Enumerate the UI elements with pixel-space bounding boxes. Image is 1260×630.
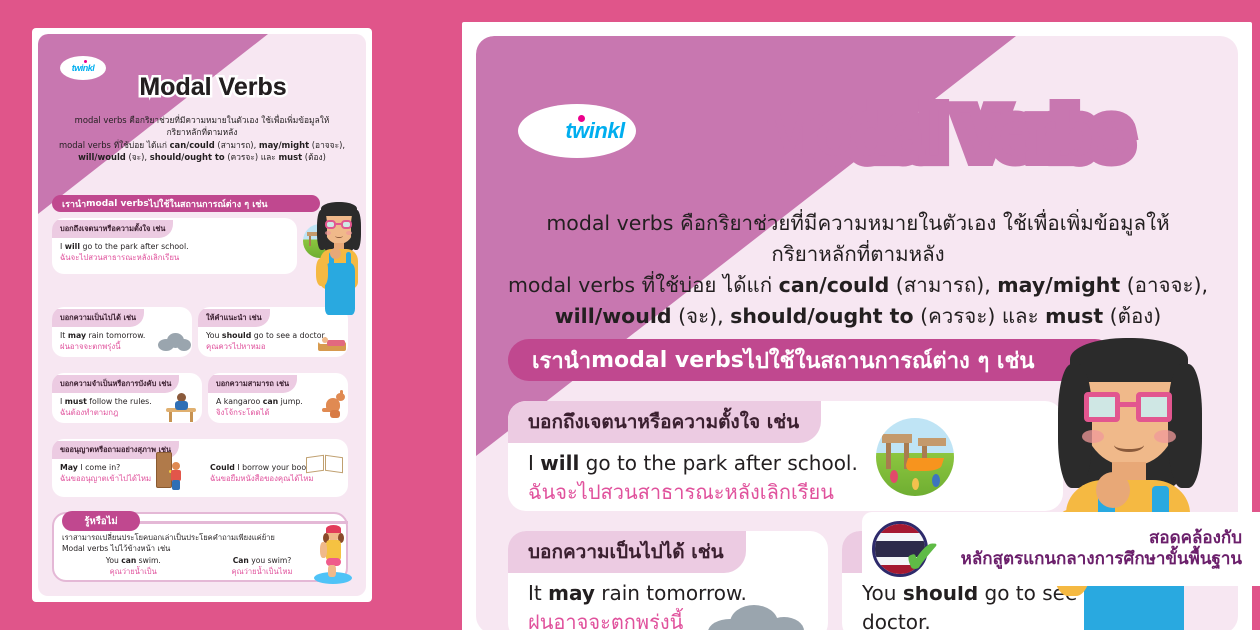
intro-l4-c: (ควรจะ) และ bbox=[225, 152, 279, 162]
playground-slide-large bbox=[904, 458, 944, 471]
playground-photo-icon-large bbox=[874, 416, 956, 498]
c1-modal: may bbox=[68, 331, 86, 340]
girl-hand bbox=[330, 248, 341, 259]
card-intention-body: I will go to the park after school. ฉันจ… bbox=[52, 238, 297, 266]
banner-part-b: modal verbs bbox=[86, 199, 149, 209]
playground-kid-1 bbox=[890, 470, 898, 483]
c4-post: jump. bbox=[278, 397, 303, 406]
girl-cheek-left-large bbox=[1082, 430, 1104, 443]
desk-leg-right bbox=[190, 412, 193, 422]
c5-modal-may: May bbox=[60, 463, 78, 472]
twinkl-logo-text: twinkl bbox=[72, 63, 95, 73]
c4-pre: A kangaroo bbox=[216, 397, 263, 406]
card-intention-header: บอกถึงเจตนาหรือความตั้งใจ เช่น bbox=[52, 220, 173, 238]
bed-blanket bbox=[327, 340, 345, 346]
c1l-post: rain tomorrow. bbox=[595, 581, 747, 605]
card-permission-english-2: Could I borrow your book? bbox=[210, 462, 315, 473]
playground-post-large-1 bbox=[886, 443, 891, 469]
c0l-pre: I bbox=[528, 451, 540, 475]
intro-l4-d: (ต้อง) bbox=[302, 152, 326, 162]
book-left-page bbox=[306, 455, 324, 474]
c3-modal: must bbox=[65, 397, 87, 406]
c5-post: I come in? bbox=[78, 463, 120, 472]
twinkl-logo-text-large: twinkl bbox=[565, 118, 624, 144]
boy-head bbox=[172, 462, 180, 470]
c2-pre: You bbox=[206, 331, 222, 340]
girl-glasses-right-large bbox=[1136, 392, 1172, 422]
kangaroo-leg bbox=[330, 410, 340, 418]
twinkl-cloud-left bbox=[529, 116, 565, 146]
girl-glasses-right bbox=[341, 220, 352, 229]
intro-lg-l4-d: (ต้อง) bbox=[1103, 304, 1161, 328]
c0-post: go to the park after school. bbox=[80, 242, 189, 251]
card-intention-large-header: บอกถึงเจตนาหรือความตั้งใจ เช่น bbox=[508, 401, 821, 443]
swimmer-girl-icon bbox=[314, 524, 354, 586]
door-boy-icon bbox=[154, 452, 184, 492]
card-intention-thai: ฉันจะไปสวนสาธารณะหลังเลิกเรียน bbox=[60, 252, 289, 263]
intro-l3-d: (อาจจะ), bbox=[309, 140, 345, 150]
playground-kid-2 bbox=[932, 474, 940, 487]
badge-text: สอดคล้องกับ หลักสูตรแกนกลางการศึกษาขั้นพ… bbox=[928, 528, 1242, 571]
modal-can-could: can/could bbox=[170, 140, 215, 150]
modal-must-large: must bbox=[1045, 304, 1103, 328]
student-body bbox=[175, 401, 188, 410]
banner-part-a: เรานำ bbox=[62, 197, 86, 211]
dyk-right-th: คุณว่ายน้ำเป็นไหม bbox=[196, 566, 328, 577]
page-title-large-wrap: Modal Verbs Modal Verbs Modal Verbs bbox=[666, 98, 1226, 172]
card-possibility-large-header: บอกความเป็นไปได้ เช่น bbox=[508, 531, 746, 573]
page-title-overlay: Modal Verbs bbox=[98, 72, 328, 102]
intro-line-2: กริยาหลักที่ตามหลัง bbox=[54, 126, 350, 138]
situations-banner: เรานำ modal verbs ไปใช้ในสถานการณ์ต่าง ๆ… bbox=[52, 195, 320, 212]
banner-part-c: ไปใช้ในสถานการณ์ต่าง ๆ เช่น bbox=[149, 197, 268, 211]
girl-hair-left bbox=[317, 210, 327, 250]
card-advice-header: ให้คำแนะนำ เช่น bbox=[198, 309, 270, 327]
intro-lg-l4-c: (ควรจะ) และ bbox=[914, 304, 1046, 328]
dyk-l-post: swim. bbox=[136, 556, 161, 565]
rain-cloud-icon-large bbox=[708, 603, 806, 630]
poster-thumbnail-left[interactable]: twinkl Modal Verbs Modal Verbs modal ver… bbox=[32, 28, 372, 602]
swimmer-cap bbox=[326, 525, 341, 533]
banner-large-c: ไปใช้ในสถานการณ์ต่าง ๆ เช่น bbox=[744, 343, 1035, 378]
kangaroo-ear bbox=[340, 390, 343, 396]
girl-mouth-large bbox=[1114, 438, 1144, 452]
card-permission-thai-2: ฉันขอยืมหนังสือของคุณได้ไหม bbox=[210, 473, 315, 484]
dyk-r-modal: Can bbox=[233, 556, 249, 565]
intro-paragraph: modal verbs คือกริยาช่วยที่มีความหมายในต… bbox=[54, 114, 350, 164]
dyk-left-en: You can swim. bbox=[70, 555, 196, 566]
sick-person-in-bed-icon bbox=[318, 334, 346, 352]
card-intention-large-english: I will go to the park after school. bbox=[528, 449, 1043, 478]
c1-post: rain tomorrow. bbox=[86, 331, 145, 340]
girl-overalls bbox=[325, 263, 355, 315]
dyk-examples: You can swim. คุณว่ายน้ำเป็น Can you swi… bbox=[62, 555, 336, 577]
banner-large-b: modal verbs bbox=[591, 348, 744, 373]
intro-lg-l3-c: (สามารถ), bbox=[889, 273, 997, 297]
intro-large-line-4: will/would (จะ), should/ought to (ควรจะ)… bbox=[500, 301, 1216, 332]
card-permission[interactable]: ขออนุญาตหรือถามอย่างสุภาพ เช่น May I com… bbox=[52, 439, 348, 497]
card-ability-header: บอกความสามารถ เช่น bbox=[208, 375, 297, 393]
c4-modal: can bbox=[263, 397, 278, 406]
girl-hair-left-large bbox=[1058, 364, 1092, 488]
bed-head bbox=[322, 337, 328, 343]
modal-will-would-large: will/would bbox=[555, 304, 672, 328]
banner-large-a: เรานำ bbox=[532, 343, 591, 378]
card-intention[interactable]: บอกถึงเจตนาหรือความตั้งใจ เช่น I will go… bbox=[52, 218, 297, 274]
girl-cheek-right-large bbox=[1154, 430, 1176, 443]
c1l-pre: It bbox=[528, 581, 548, 605]
girl-strap-right bbox=[346, 252, 351, 266]
playground-kid-3 bbox=[912, 478, 919, 490]
card-obligation-header: บอกความจำเป็นหรือการบังคับ เช่น bbox=[52, 375, 179, 393]
intro-lg-l3-d: (อาจจะ), bbox=[1120, 273, 1208, 297]
flag-stripe-red-top bbox=[875, 524, 925, 533]
girl-thinking-illustration bbox=[310, 200, 366, 318]
cloud-puff-3 bbox=[177, 339, 191, 351]
dyk-example-left: You can swim. คุณว่ายน้ำเป็น bbox=[70, 555, 196, 577]
dyk-l-pre: You bbox=[106, 556, 122, 565]
card-permission-right: Could I borrow your book? ฉันขอยืมหนังสื… bbox=[210, 462, 315, 484]
girl-glasses-left bbox=[325, 220, 336, 229]
poster-thumbnail-canvas: twinkl Modal Verbs Modal Verbs modal ver… bbox=[38, 34, 366, 596]
desk-leg-left bbox=[169, 412, 172, 422]
intro-large-line-3: modal verbs ที่ใช้บ่อย ได้แก่ can/could … bbox=[500, 270, 1216, 301]
intro-large-line-1: modal verbs คือกริยาช่วยที่มีความหมายในต… bbox=[500, 208, 1216, 239]
intro-l3-c: (สามารถ), bbox=[215, 140, 259, 150]
modal-will-would: will/would bbox=[78, 152, 126, 162]
girl-hand-large bbox=[1096, 472, 1130, 508]
c2-post: go to see a doctor. bbox=[251, 331, 326, 340]
intro-line-1: modal verbs คือกริยาช่วยที่มีความหมายในต… bbox=[54, 114, 350, 126]
modal-must: must bbox=[278, 152, 302, 162]
playground-illustration-large bbox=[876, 418, 954, 496]
intro-lg-l3-a: modal verbs ที่ใช้บ่อย ได้แก่ bbox=[508, 273, 779, 297]
intro-l3-a: modal verbs ที่ใช้บ่อย ได้แก่ bbox=[59, 140, 170, 150]
dyk-line-1: เราสามารถเปลี่ยนประโยคบอกเล่าเป็นประโยคค… bbox=[62, 532, 336, 543]
card-possibility-header: บอกความเป็นไปได้ เช่น bbox=[52, 309, 144, 327]
twinkl-logo-large: twinkl bbox=[518, 104, 636, 158]
girl-mouth bbox=[335, 234, 343, 238]
dyk-r-post: you swim? bbox=[249, 556, 292, 565]
intro-lg-l4-a: (จะ), bbox=[672, 304, 731, 328]
card-intention-large[interactable]: บอกถึงเจตนาหรือความตั้งใจ เช่น I will go… bbox=[508, 401, 1063, 511]
did-you-know-tab: รู้หรือไม่ bbox=[62, 511, 140, 531]
girl-hair-right bbox=[351, 210, 361, 250]
c1-pre: It bbox=[60, 331, 68, 340]
intro-paragraph-large: modal verbs คือกริยาช่วยที่มีความหมายในต… bbox=[500, 208, 1216, 332]
c5-modal-could: Could bbox=[210, 463, 235, 472]
dyk-left-th: คุณว่ายน้ำเป็น bbox=[70, 566, 196, 577]
playground-roof-large-1 bbox=[882, 434, 912, 443]
card-permission-english-1: May I come in? bbox=[60, 462, 151, 473]
girl-glasses-left-large bbox=[1084, 392, 1120, 422]
dyk-l-modal: can bbox=[121, 556, 136, 565]
page-title-large-outline: Modal Verbs bbox=[666, 98, 1226, 172]
modal-may-might: may/might bbox=[259, 140, 309, 150]
intro-large-line-2: กริยาหลักที่ตามหลัง bbox=[500, 239, 1216, 270]
girl-cheek-right bbox=[346, 231, 352, 235]
card-permission-thai-1: ฉันขออนุญาตเข้าไปได้ไหม bbox=[60, 473, 151, 484]
girl-cheek-left bbox=[325, 231, 331, 235]
situations-banner-large: เรานำ modal verbs ไปใช้ในสถานการณ์ต่าง ๆ… bbox=[508, 339, 1116, 381]
girl-fringe-large bbox=[1070, 338, 1188, 382]
intro-line-4: will/would (จะ), should/ought to (ควรจะ)… bbox=[54, 151, 350, 163]
c1l-modal: may bbox=[548, 581, 595, 605]
boy-legs bbox=[172, 480, 180, 490]
c0-modal: will bbox=[65, 242, 80, 251]
green-check-icon: ✔ bbox=[904, 536, 941, 580]
open-book-icon bbox=[306, 452, 344, 476]
swimmer-body bbox=[326, 540, 341, 560]
dyk-right-en: Can you swim? bbox=[196, 555, 328, 566]
modal-may-might-large: may/might bbox=[997, 273, 1120, 297]
card-permission-left: May I come in? ฉันขออนุญาตเข้าไปได้ไหม bbox=[60, 462, 151, 484]
modal-should-ought-large: should/ought to bbox=[730, 304, 913, 328]
c5-post-2: I borrow your book? bbox=[235, 463, 315, 472]
c3-post: follow the rules. bbox=[87, 397, 152, 406]
swimmer-arm bbox=[320, 542, 327, 558]
playground-roof-large-2 bbox=[918, 438, 946, 446]
curriculum-accreditation-badge: ✔ สอดคล้องกับ หลักสูตรแกนกลางการศึกษาขั้… bbox=[862, 512, 1260, 586]
c0l-post: go to the park after school. bbox=[579, 451, 858, 475]
card-intention-large-body: I will go to the park after school. ฉันจ… bbox=[508, 443, 1063, 511]
intro-l4-a: (จะ), bbox=[126, 152, 150, 162]
girl-hair-right-large bbox=[1168, 364, 1202, 488]
book-right-page bbox=[325, 455, 343, 474]
student-at-desk-icon bbox=[166, 392, 196, 422]
intro-line-3: modal verbs ที่ใช้บ่อย ได้แก่ can/could … bbox=[54, 139, 350, 151]
modal-can-could-large: can/could bbox=[779, 273, 890, 297]
dyk-line-2: Modal verbs ไปไว้ข้างหน้า เช่น bbox=[62, 543, 336, 554]
swimmer-leg bbox=[328, 565, 336, 577]
rain-cloud-icon bbox=[158, 332, 192, 352]
modal-should-ought: should/ought to bbox=[150, 152, 225, 162]
kangaroo-icon bbox=[322, 392, 348, 420]
badge-line-1: สอดคล้องกับ bbox=[928, 528, 1242, 549]
dyk-example-right: Can you swim? คุณว่ายน้ำเป็นไหม bbox=[196, 555, 328, 577]
girl-glasses-bridge-large bbox=[1120, 402, 1136, 407]
c0l-modal: will bbox=[540, 451, 579, 475]
c2-modal: should bbox=[222, 331, 251, 340]
girl-glasses-bridge bbox=[336, 223, 341, 225]
badge-line-2: หลักสูตรแกนกลางการศึกษาขั้นพื้นฐาน bbox=[928, 549, 1242, 570]
girl-arm-left bbox=[316, 258, 328, 286]
card-intention-english: I will go to the park after school. bbox=[60, 241, 289, 252]
card-permission-body: May I come in? ฉันขออนุญาตเข้าไปได้ไหม C… bbox=[52, 459, 348, 497]
card-intention-large-thai: ฉันจะไปสวนสาธารณะหลังเลิกเรียน bbox=[528, 478, 1043, 507]
